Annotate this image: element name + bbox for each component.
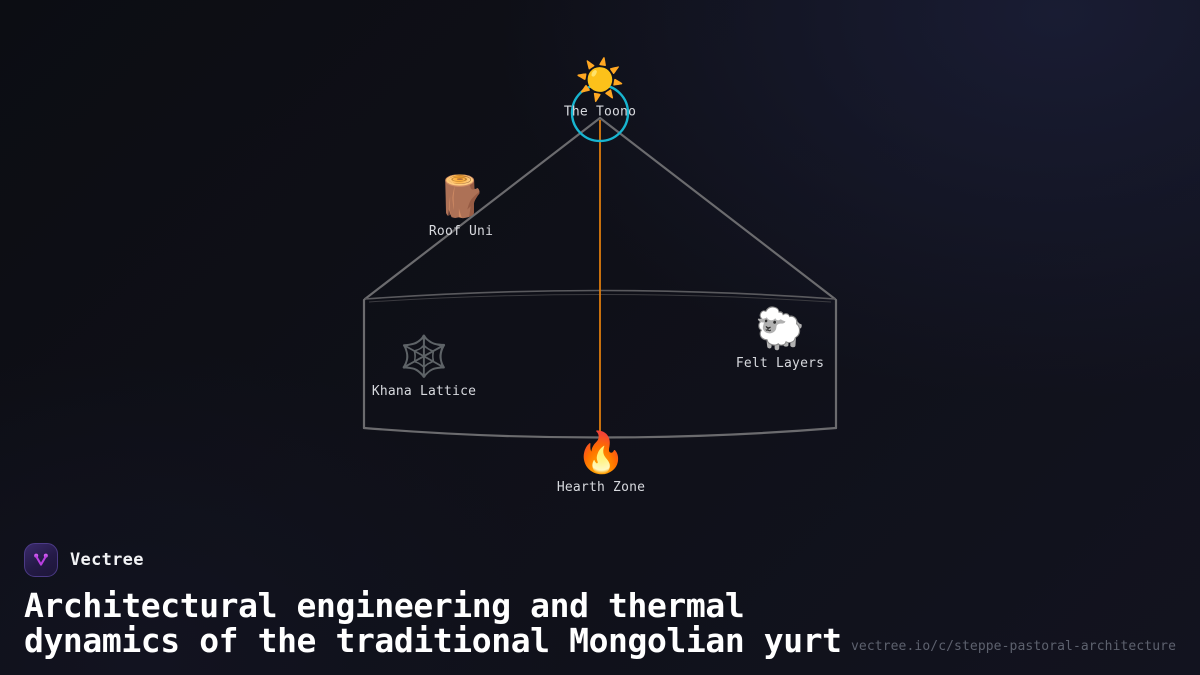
- node-felt-layers[interactable]: 🐑 Felt Layers: [736, 309, 824, 371]
- source-url: vectree.io/c/steppe-pastoral-architectur…: [851, 639, 1176, 654]
- node-label-khana-lattice: Khana Lattice: [372, 384, 476, 399]
- node-label-hearth-zone: Hearth Zone: [557, 480, 645, 495]
- node-roof-uni[interactable]: 🪵 Roof Uni: [429, 177, 493, 239]
- node-hearth-zone[interactable]: 🔥 Hearth Zone: [557, 433, 645, 495]
- brand-row: Vectree: [24, 543, 1176, 577]
- fire-icon: 🔥: [576, 433, 626, 473]
- node-label-toono: The Toono: [564, 105, 636, 120]
- sun-icon: ☀️: [575, 61, 625, 101]
- vectree-logo-icon: [24, 543, 58, 577]
- node-khana-lattice[interactable]: 🕸️ Khana Lattice: [372, 337, 476, 399]
- footer: Vectree Architectural engineering and th…: [0, 543, 1200, 675]
- wood-log-icon: 🪵: [436, 177, 486, 217]
- node-label-roof-uni: Roof Uni: [429, 224, 493, 239]
- screenshot-root: ☀️ The Toono 🪵 Roof Uni 🕸️ Khana Lattice…: [0, 0, 1200, 675]
- page-title: Architectural engineering and thermal dy…: [24, 589, 844, 659]
- roof-line-right: [600, 118, 835, 299]
- node-label-felt-layers: Felt Layers: [736, 356, 824, 371]
- spider-web-icon: 🕸️: [399, 337, 449, 377]
- node-toono[interactable]: ☀️ The Toono: [564, 61, 636, 120]
- brand-name: Vectree: [70, 550, 144, 570]
- sheep-icon: 🐑: [755, 309, 805, 349]
